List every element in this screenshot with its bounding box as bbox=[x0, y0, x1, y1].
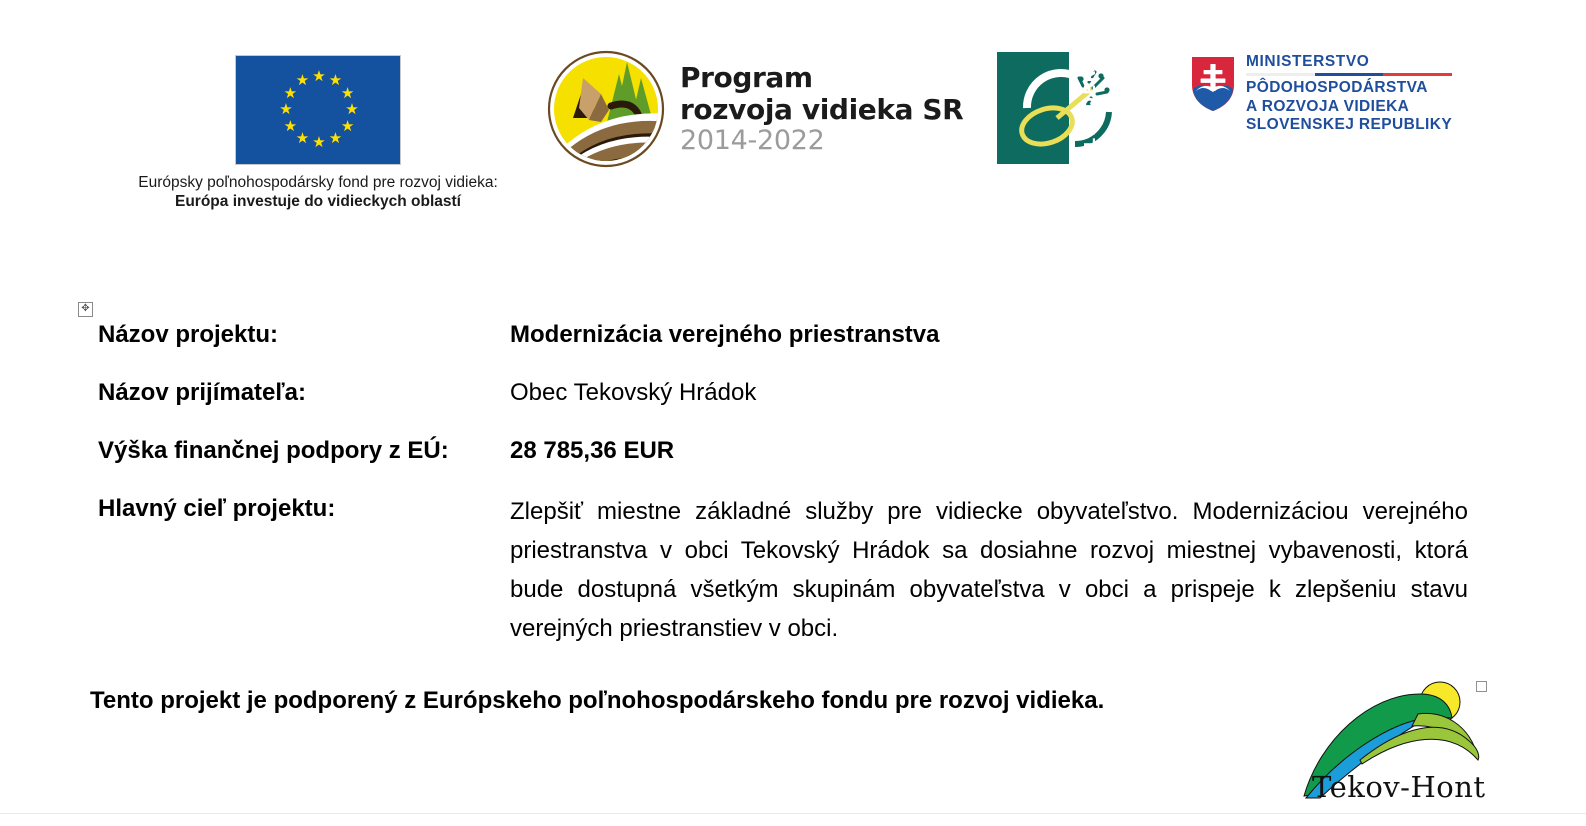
ministry-logo-text: MINISTERSTVO PÔDOHOSPODÁRSTVA A ROZVOJA … bbox=[1246, 52, 1486, 135]
ministry-line-4: SLOVENSKEJ REPUBLIKY bbox=[1246, 116, 1486, 135]
page-gutter bbox=[0, 813, 1586, 826]
table-row: Názov prijímateľa: Obec Tekovský Hrádok bbox=[98, 376, 1478, 410]
ministry-line-3: A ROZVOJA VIDIEKA bbox=[1246, 98, 1486, 117]
table-row: Výška finančnej podpory z EÚ: 28 785,36 … bbox=[98, 434, 1478, 468]
prv-logo-text: Program rozvoja vidieka SR 2014-2022 bbox=[680, 62, 963, 156]
ministry-line-2: PÔDOHOSPODÁRSTVA bbox=[1246, 79, 1486, 98]
ministry-tricolor-rule bbox=[1246, 73, 1452, 76]
table-row: Hlavný cieľ projektu: Zlepšiť miestne zá… bbox=[98, 492, 1478, 648]
table-row: Názov projektu: Modernizácia verejného p… bbox=[98, 318, 1478, 352]
prv-line-1: Program bbox=[680, 62, 963, 94]
funding-statement: Tento projekt je podporený z Európskeho … bbox=[90, 685, 1104, 717]
european-union-flag-icon: ★★★★★★★★★★★★ bbox=[235, 55, 401, 165]
object-anchor-handle[interactable] bbox=[1476, 681, 1487, 692]
row-label-main-goal: Hlavný cieľ projektu: bbox=[98, 492, 510, 526]
prv-line-3: 2014-2022 bbox=[680, 126, 963, 156]
tekov-hont-label: Tekov-Hont bbox=[1312, 770, 1486, 804]
row-value-project-name: Modernizácia verejného priestranstva bbox=[510, 318, 1478, 352]
prv-logo-block: Program rozvoja vidieka SR 2014-2022 bbox=[545, 48, 975, 178]
row-value-eu-support-amount: 28 785,36 EUR bbox=[510, 434, 1478, 468]
eu-logo-block: ★★★★★★★★★★★★ Európsky poľnohospodársky f… bbox=[108, 55, 528, 211]
eu-caption-line-2: Európa investuje do vidieckych oblastí bbox=[108, 192, 528, 211]
row-value-main-goal: Zlepšiť miestne základné služby pre vidi… bbox=[510, 492, 1468, 648]
table-move-handle-icon[interactable]: ✥ bbox=[78, 302, 93, 317]
row-label-beneficiary: Názov prijímateľa: bbox=[98, 376, 510, 410]
row-label-eu-support-amount: Výška finančnej podpory z EÚ: bbox=[98, 434, 510, 468]
row-label-project-name: Názov projektu: bbox=[98, 318, 510, 352]
logo-bar: ★★★★★★★★★★★★ Európsky poľnohospodársky f… bbox=[0, 0, 1586, 230]
document-page: ★★★★★★★★★★★★ Európsky poľnohospodársky f… bbox=[0, 0, 1586, 826]
eu-logo-caption: Európsky poľnohospodársky fond pre rozvo… bbox=[108, 173, 528, 211]
eu-caption-line-1: Európsky poľnohospodársky fond pre rozvo… bbox=[108, 173, 528, 192]
tekov-hont-logo-block: Tekov-Hont bbox=[1300, 678, 1490, 806]
leader-logo-block: LEADER bbox=[997, 52, 1115, 164]
ministry-line-1: MINISTERSTVO bbox=[1246, 52, 1486, 71]
prv-emblem-icon bbox=[545, 48, 667, 170]
project-info-table: Názov projektu: Modernizácia verejného p… bbox=[98, 318, 1478, 672]
row-value-beneficiary: Obec Tekovský Hrádok bbox=[510, 376, 1478, 410]
ministry-logo-block: MINISTERSTVO PÔDOHOSPODÁRSTVA A ROZVOJA … bbox=[1190, 52, 1490, 152]
prv-line-2: rozvoja vidieka SR bbox=[680, 94, 963, 126]
leader-emblem-icon bbox=[997, 52, 1115, 164]
slovak-coat-of-arms-icon bbox=[1190, 55, 1236, 113]
